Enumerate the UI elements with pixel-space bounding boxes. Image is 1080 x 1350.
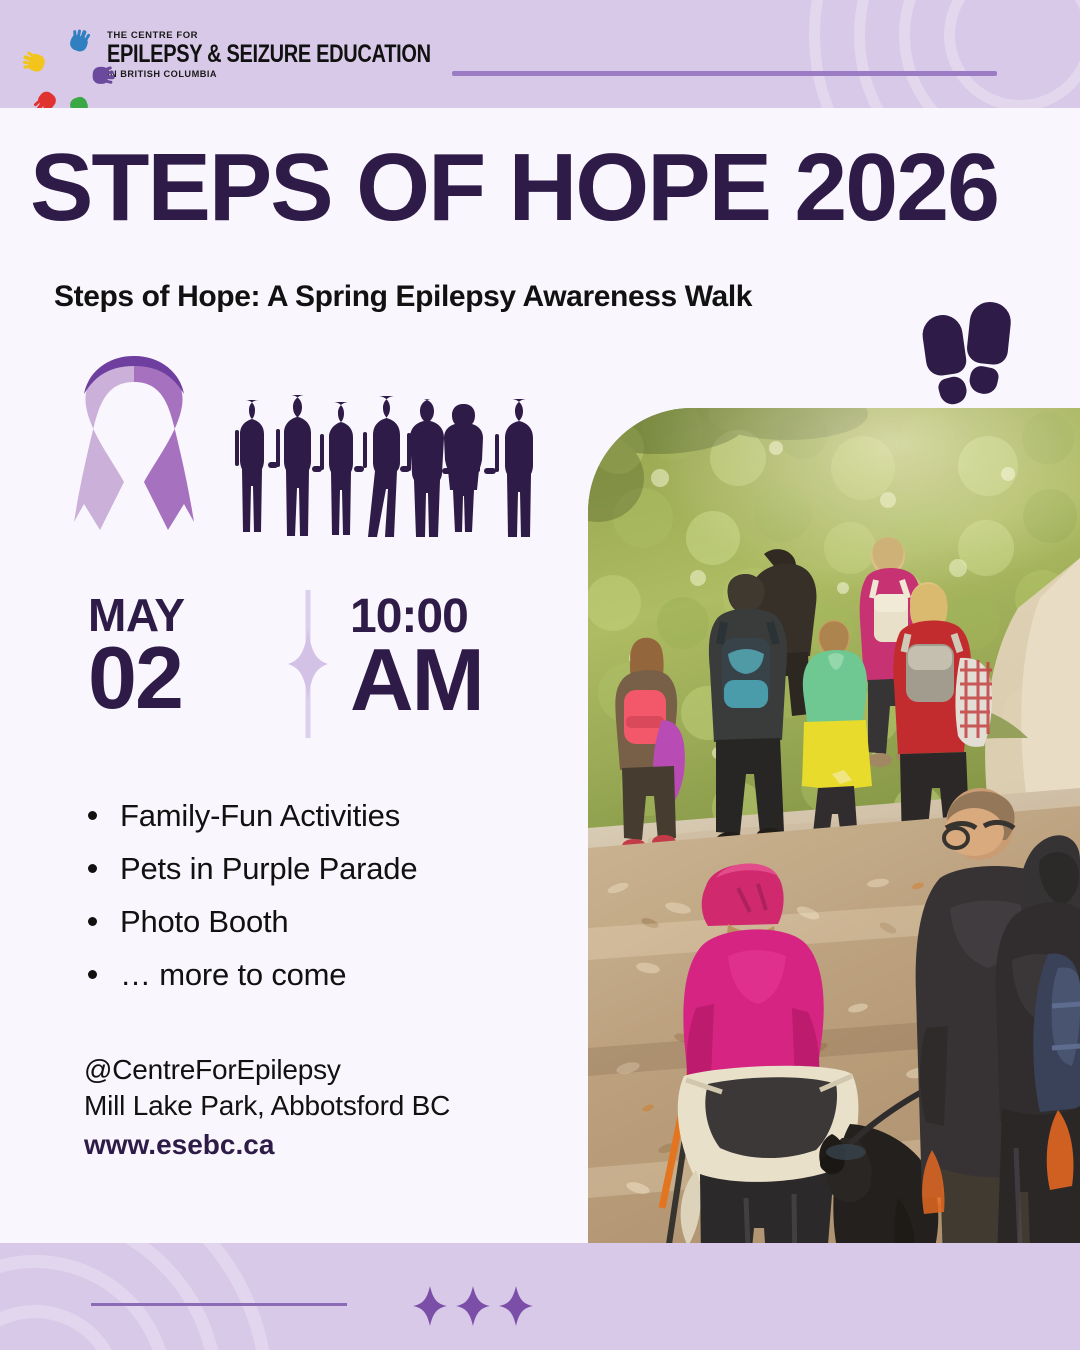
event-photo: [588, 408, 1080, 1350]
list-item: Pets in Purple Parade: [72, 853, 542, 884]
organization-logo[interactable]: THE CENTRE FOR EPILEPSY & SEIZURE EDUCAT…: [36, 24, 512, 86]
sparkle-divider-icon: [288, 590, 328, 738]
social-handle[interactable]: @CentreForEpilepsy: [84, 1052, 564, 1088]
logo-line-bottom: IN BRITISH COLUMBIA: [107, 70, 512, 79]
footer-sparkles-icon: [412, 1285, 534, 1327]
page-title: STEPS OF HOPE 2026: [30, 140, 1040, 236]
list-item-label: Photo Booth: [120, 904, 288, 939]
poster: THE CENTRE FOR EPILEPSY & SEIZURE EDUCAT…: [0, 0, 1080, 1350]
event-datetime: MAY 02 10:00 AM: [80, 590, 550, 740]
list-item-label: Pets in Purple Parade: [120, 851, 417, 886]
event-day: 02: [88, 638, 185, 719]
people-holding-hands-icon: [232, 392, 550, 540]
event-time: 10:00 AM: [350, 594, 483, 721]
header-band: THE CENTRE FOR EPILEPSY & SEIZURE EDUCAT…: [0, 0, 1080, 108]
logo-line-main: EPILEPSY & SEIZURE EDUCATION: [107, 42, 431, 67]
bullet-dot-icon: [88, 811, 97, 820]
list-item-label: Family-Fun Activities: [120, 798, 400, 833]
list-item: Photo Booth: [72, 906, 542, 937]
awareness-ribbon-icon: [72, 352, 196, 532]
event-date: MAY 02: [88, 594, 185, 719]
activities-list: Family-Fun Activities Pets in Purple Par…: [72, 800, 542, 1012]
website-link[interactable]: www.esebc.ca: [84, 1127, 564, 1163]
event-ampm: AM: [350, 640, 483, 721]
list-item: Family-Fun Activities: [72, 800, 542, 831]
footer-arc-decoration: [0, 1243, 245, 1350]
footer-band: [0, 1243, 1080, 1350]
logo-line-top: THE CENTRE FOR: [107, 31, 512, 41]
bullet-dot-icon: [88, 917, 97, 926]
handprints-icon: [36, 24, 98, 86]
bullet-dot-icon: [88, 864, 97, 873]
bullet-dot-icon: [88, 970, 97, 979]
event-location: Mill Lake Park, Abbotsford BC: [84, 1088, 564, 1124]
footer-divider-line: [91, 1303, 347, 1306]
header-divider-line: [452, 71, 997, 76]
contact-block: @CentreForEpilepsy Mill Lake Park, Abbot…: [84, 1052, 564, 1162]
list-item: … more to come: [72, 959, 542, 990]
footprints-icon: [920, 300, 1030, 388]
list-item-label: … more to come: [120, 957, 346, 992]
header-arc-decoration: [810, 0, 1080, 108]
page-subtitle: Steps of Hope: A Spring Epilepsy Awarene…: [54, 280, 752, 314]
